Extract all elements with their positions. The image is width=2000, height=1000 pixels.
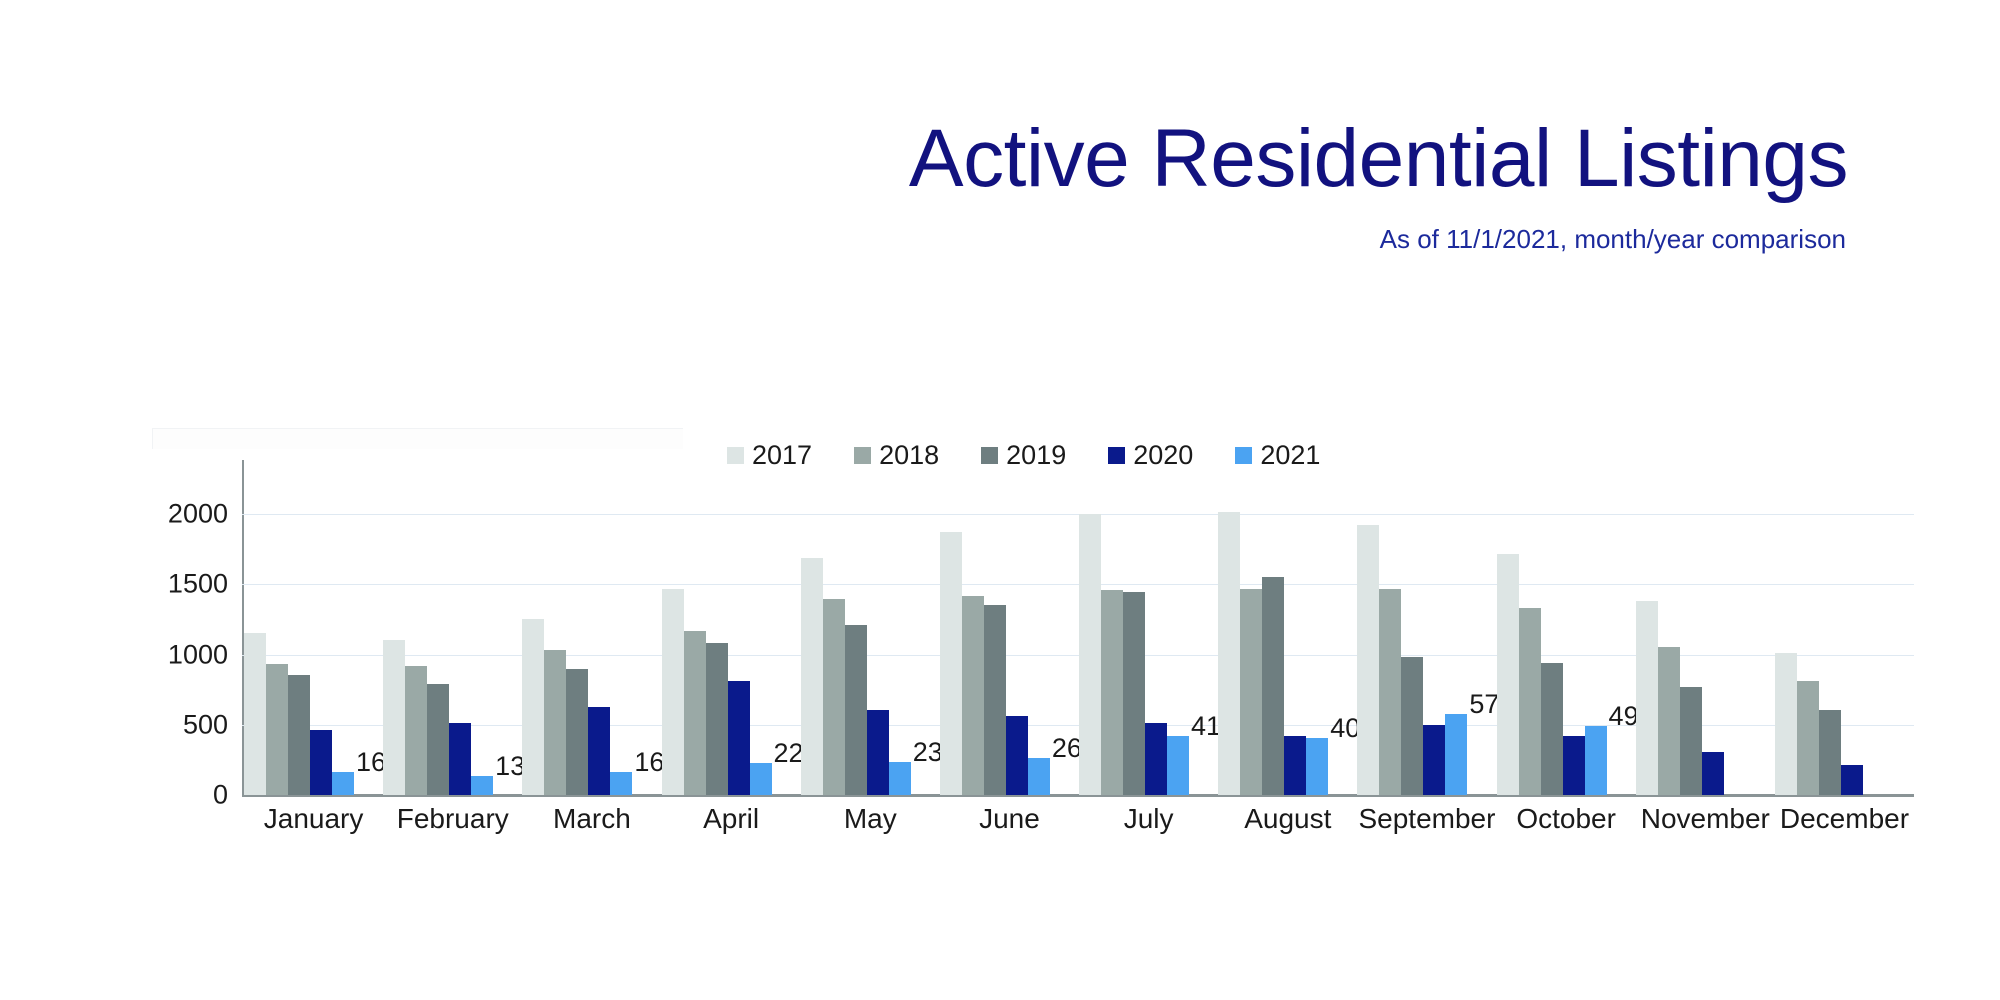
bar-2018-october[interactable] <box>1519 608 1541 795</box>
chart-page: Active Residential Listings As of 11/1/2… <box>0 0 2000 1000</box>
chart-header: Active Residential Listings As of 11/1/2… <box>0 0 1900 255</box>
legend-swatch-icon <box>981 447 998 464</box>
bar-2020-april[interactable] <box>728 681 750 795</box>
gridline <box>242 795 1914 796</box>
x-axis-ticks: JanuaryFebruaryMarchAprilMayJuneJulyAugu… <box>244 803 1914 835</box>
plot-area: 0500100015002000 16313616322923626541840… <box>242 500 1914 795</box>
bar-group-january: 163 <box>244 500 383 795</box>
bar-2018-june[interactable] <box>962 596 984 795</box>
bar-2020-march[interactable] <box>588 707 610 796</box>
plot-panel-background <box>152 428 683 449</box>
bar-group-may: 236 <box>801 500 940 795</box>
bar-2017-may[interactable] <box>801 558 823 795</box>
bar-2018-may[interactable] <box>823 599 845 795</box>
bar-2018-february[interactable] <box>405 666 427 795</box>
bar-2019-march[interactable] <box>566 669 588 795</box>
bar-2018-july[interactable] <box>1101 590 1123 795</box>
x-axis-tick-label-april: April <box>662 803 801 835</box>
bar-2019-july[interactable] <box>1123 592 1145 795</box>
bar-2021-june[interactable]: 265 <box>1028 758 1050 795</box>
x-axis-tick-label-october: October <box>1497 803 1636 835</box>
x-axis-tick-label-march: March <box>522 803 661 835</box>
x-axis-tick-label-august: August <box>1218 803 1357 835</box>
chart-frame: 20172018201920202021 0500100015002000 16… <box>152 428 1922 818</box>
bar-2018-december[interactable] <box>1797 681 1819 795</box>
bar-group-march: 163 <box>522 500 661 795</box>
bar-2017-june[interactable] <box>940 532 962 795</box>
legend-swatch-icon <box>1235 447 1252 464</box>
y-axis-tick-label: 1000 <box>108 639 228 670</box>
bar-2019-august[interactable] <box>1262 577 1284 795</box>
bar-2019-october[interactable] <box>1541 663 1563 795</box>
bar-2021-january[interactable]: 163 <box>332 772 354 795</box>
bar-2019-december[interactable] <box>1819 710 1841 795</box>
x-axis-tick-label-may: May <box>801 803 940 835</box>
bar-2020-october[interactable] <box>1563 736 1585 795</box>
bar-2021-march[interactable]: 163 <box>610 772 632 795</box>
bar-2020-february[interactable] <box>449 723 471 795</box>
bar-2018-august[interactable] <box>1240 589 1262 795</box>
bar-2020-november[interactable] <box>1702 752 1724 795</box>
bar-2021-october[interactable]: 493 <box>1585 726 1607 795</box>
y-axis-tick-label: 2000 <box>108 499 228 530</box>
bar-group-february: 136 <box>383 500 522 795</box>
x-axis-tick-label-january: January <box>244 803 383 835</box>
legend-item-2020[interactable]: 2020 <box>1108 442 1193 469</box>
legend-swatch-icon <box>854 447 871 464</box>
bar-2017-august[interactable] <box>1218 512 1240 795</box>
bar-2017-july[interactable] <box>1079 514 1101 795</box>
x-axis-tick-label-september: September <box>1357 803 1496 835</box>
x-axis-tick-label-february: February <box>383 803 522 835</box>
page-title: Active Residential Listings <box>0 0 1900 200</box>
bar-2020-december[interactable] <box>1841 765 1863 795</box>
bar-2020-june[interactable] <box>1006 716 1028 795</box>
legend-label: 2020 <box>1133 442 1193 469</box>
bar-2017-september[interactable] <box>1357 525 1379 795</box>
bar-2021-july[interactable]: 418 <box>1167 736 1189 795</box>
bar-group-november <box>1636 500 1775 795</box>
x-axis-tick-label-december: December <box>1775 803 1914 835</box>
legend-item-2017[interactable]: 2017 <box>727 442 812 469</box>
bar-2019-september[interactable] <box>1401 657 1423 795</box>
bar-2018-march[interactable] <box>544 650 566 795</box>
chart-subtitle: As of 11/1/2021, month/year comparison <box>0 200 1900 255</box>
bar-group-august: 408 <box>1218 500 1357 795</box>
bar-group-october: 493 <box>1497 500 1636 795</box>
bar-2017-january[interactable] <box>244 633 266 795</box>
bar-2019-february[interactable] <box>427 684 449 795</box>
bar-group-july: 418 <box>1079 500 1218 795</box>
legend-item-2019[interactable]: 2019 <box>981 442 1066 469</box>
bar-2018-september[interactable] <box>1379 589 1401 795</box>
bar-2019-june[interactable] <box>984 605 1006 795</box>
bar-2020-january[interactable] <box>310 730 332 795</box>
bar-2019-may[interactable] <box>845 625 867 795</box>
bar-2020-august[interactable] <box>1284 736 1306 795</box>
legend-label: 2017 <box>752 442 812 469</box>
x-axis-tick-label-june: June <box>940 803 1079 835</box>
bar-2021-february[interactable]: 136 <box>471 776 493 795</box>
bar-2021-august[interactable]: 408 <box>1306 738 1328 795</box>
bar-2020-september[interactable] <box>1423 725 1445 795</box>
legend-item-2021[interactable]: 2021 <box>1235 442 1320 469</box>
bar-2017-october[interactable] <box>1497 554 1519 795</box>
legend-label: 2019 <box>1006 442 1066 469</box>
bar-group-april: 229 <box>662 500 801 795</box>
bar-2020-july[interactable] <box>1145 723 1167 795</box>
bar-2017-december[interactable] <box>1775 653 1797 795</box>
legend-swatch-icon <box>1108 447 1125 464</box>
bar-2017-february[interactable] <box>383 640 405 795</box>
legend-item-2018[interactable]: 2018 <box>854 442 939 469</box>
y-axis-tick-label: 1500 <box>108 569 228 600</box>
chart-legend: 20172018201920202021 <box>727 442 1320 469</box>
bar-2018-january[interactable] <box>266 664 288 795</box>
bar-groups: 163136163229236265418408575493 <box>244 500 1914 795</box>
bar-2021-april[interactable]: 229 <box>750 763 772 795</box>
bar-2018-november[interactable] <box>1658 647 1680 795</box>
bar-2021-september[interactable]: 575 <box>1445 714 1467 795</box>
bar-2017-april[interactable] <box>662 589 684 795</box>
y-axis-tick-label: 0 <box>108 780 228 811</box>
bar-group-september: 575 <box>1357 500 1496 795</box>
bar-group-december <box>1775 500 1914 795</box>
bar-2019-january[interactable] <box>288 675 310 795</box>
y-axis-tick-label: 500 <box>108 709 228 740</box>
legend-label: 2018 <box>879 442 939 469</box>
bar-group-june: 265 <box>940 500 1079 795</box>
bar-2018-april[interactable] <box>684 631 706 795</box>
bar-2021-may[interactable]: 236 <box>889 762 911 795</box>
bar-2017-march[interactable] <box>522 619 544 795</box>
x-axis-tick-label-july: July <box>1079 803 1218 835</box>
bar-2019-november[interactable] <box>1680 687 1702 795</box>
x-axis-tick-label-november: November <box>1636 803 1775 835</box>
bar-2020-may[interactable] <box>867 710 889 795</box>
legend-swatch-icon <box>727 447 744 464</box>
bar-2019-april[interactable] <box>706 643 728 795</box>
bar-2017-november[interactable] <box>1636 601 1658 795</box>
legend-label: 2021 <box>1260 442 1320 469</box>
